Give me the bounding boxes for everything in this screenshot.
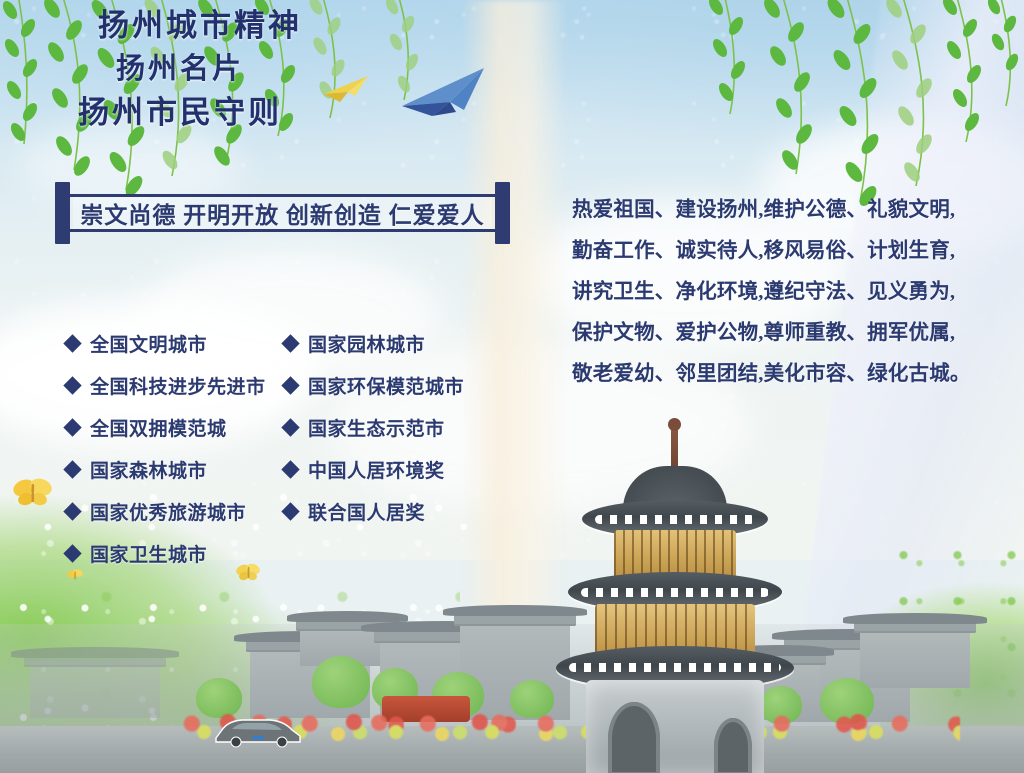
code-line: 敬老爱幼、邻里团结,美化市容、绿化古城。 bbox=[572, 354, 976, 395]
diamond-bullet-icon bbox=[281, 460, 299, 478]
list-item: 联合国人居奖 bbox=[284, 490, 504, 532]
list-item: 国家园林城市 bbox=[284, 322, 504, 364]
code-line: 讲究卫生、净化环境,遵纪守法、见义勇为, bbox=[572, 272, 976, 313]
city-spirit-slogan: 崇文尚德 开明开放 创新创造 仁爱爱人 bbox=[80, 196, 484, 230]
frame-bar-left bbox=[55, 182, 70, 244]
list-item-label: 中国人居环境奖 bbox=[308, 456, 445, 483]
citizen-code-title: 扬州市民守则 bbox=[0, 87, 360, 132]
diamond-bullet-icon bbox=[63, 460, 81, 478]
list-item: 国家森林城市 bbox=[66, 448, 286, 490]
list-item-label: 全国双拥模范城 bbox=[90, 414, 227, 441]
list-item: 国家环保模范城市 bbox=[284, 364, 504, 406]
code-line: 热爱祖国、建设扬州,维护公德、礼貌文明, bbox=[572, 190, 976, 231]
yangzhou-card-title: 扬州名片 bbox=[0, 45, 360, 87]
list-item: 中国人居环境奖 bbox=[284, 448, 504, 490]
list-item: 全国科技进步先进市 bbox=[66, 364, 286, 406]
list-item-label: 国家森林城市 bbox=[90, 456, 207, 483]
diamond-bullet-icon bbox=[63, 334, 81, 352]
card-column-right: 国家园林城市 国家环保模范城市 国家生态示范市 中国人居环境奖 联合国人居奖 bbox=[284, 322, 504, 532]
list-item: 全国双拥模范城 bbox=[66, 406, 286, 448]
diamond-bullet-icon bbox=[281, 502, 299, 520]
citizen-code-body: 热爱祖国、建设扬州,维护公德、礼貌文明, 勤奋工作、诚实待人,移风易俗、计划生育… bbox=[572, 190, 976, 395]
poster-root: 扬州城市精神 崇文尚德 开明开放 创新创造 仁爱爱人 扬州名片 全国文明城市 全… bbox=[0, 0, 1024, 773]
list-item-label: 联合国人居奖 bbox=[308, 498, 425, 525]
code-line: 保护文物、爱护公物,尊师重教、拥军优属, bbox=[572, 313, 976, 354]
card-column-left: 全国文明城市 全国科技进步先进市 全国双拥模范城 国家森林城市 国家优秀旅游城市 bbox=[66, 322, 286, 574]
list-item-label: 国家园林城市 bbox=[308, 330, 425, 357]
city-spirit-slogan-frame: 崇文尚德 开明开放 创新创造 仁爱爱人 bbox=[55, 182, 510, 244]
content-layer: 扬州城市精神 崇文尚德 开明开放 创新创造 仁爱爱人 扬州名片 全国文明城市 全… bbox=[0, 0, 1024, 773]
diamond-bullet-icon bbox=[281, 418, 299, 436]
frame-bar-right bbox=[495, 182, 510, 244]
list-item-label: 全国科技进步先进市 bbox=[90, 372, 266, 399]
list-item-label: 全国文明城市 bbox=[90, 330, 207, 357]
diamond-bullet-icon bbox=[281, 376, 299, 394]
diamond-bullet-icon bbox=[63, 376, 81, 394]
list-item: 全国文明城市 bbox=[66, 322, 286, 364]
code-line: 勤奋工作、诚实待人,移风易俗、计划生育, bbox=[572, 231, 976, 272]
list-item: 国家卫生城市 bbox=[66, 532, 286, 574]
diamond-bullet-icon bbox=[63, 502, 81, 520]
city-spirit-slogan-box: 崇文尚德 开明开放 创新创造 仁爱爱人 bbox=[73, 197, 492, 229]
list-item-label: 国家卫生城市 bbox=[90, 540, 207, 567]
diamond-bullet-icon bbox=[63, 418, 81, 436]
list-item-label: 国家生态示范市 bbox=[308, 414, 445, 441]
list-item: 国家优秀旅游城市 bbox=[66, 490, 286, 532]
list-item-label: 国家环保模范城市 bbox=[308, 372, 464, 399]
city-spirit-title: 扬州城市精神 bbox=[0, 0, 400, 45]
diamond-bullet-icon bbox=[281, 334, 299, 352]
list-item: 国家生态示范市 bbox=[284, 406, 504, 448]
list-item-label: 国家优秀旅游城市 bbox=[90, 498, 246, 525]
diamond-bullet-icon bbox=[63, 544, 81, 562]
